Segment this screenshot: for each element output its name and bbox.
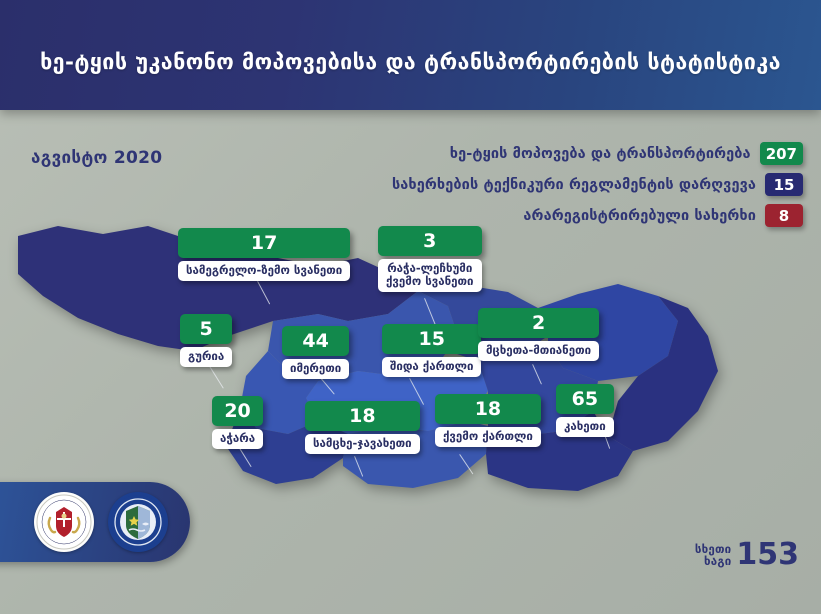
- logo-panel: [0, 482, 190, 562]
- date-label: აგვისტო 2020: [31, 148, 162, 168]
- map-marker-samtskhe[interactable]: 18 სამცხე-ჯავახეთი: [305, 401, 420, 454]
- marker-label: იმერეთი: [282, 359, 349, 379]
- map-marker-kakheti[interactable]: 65 კახეთი: [556, 384, 614, 437]
- marker-value: 20: [212, 396, 263, 426]
- department-seal-svg: [110, 494, 166, 550]
- marker-label: ქვემო ქართლი: [435, 427, 541, 447]
- marker-label: კახეთი: [556, 417, 614, 437]
- marker-label: შიდა ქართლი: [382, 357, 481, 377]
- marker-value: 18: [305, 401, 420, 431]
- legend-row: სახერხების ტექნიკური რეგლამენტის დარღვევ…: [243, 173, 803, 196]
- map-marker-shida-kartli[interactable]: 15 შიდა ქართლი: [382, 324, 481, 377]
- marker-value: 3: [378, 226, 482, 256]
- marker-value: 2: [478, 308, 599, 338]
- legend-label: ხე-ტყის მოპოვება და ტრანსპორტირება: [450, 146, 751, 162]
- infographic-root: ხე-ტყის უკანონო მოპოვებისა და ტრანსპორტი…: [0, 0, 821, 614]
- coat-of-arms-svg: [36, 494, 92, 550]
- map-marker-kvemo-kartli[interactable]: 18 ქვემო ქართლი: [435, 394, 541, 447]
- marker-value: 15: [382, 324, 481, 354]
- marker-value: 5: [180, 314, 232, 344]
- map-marker-imereti[interactable]: 44 იმერეთი: [282, 326, 349, 379]
- department-seal-icon: [108, 492, 168, 552]
- georgia-coat-of-arms-icon: [34, 492, 94, 552]
- marker-value: 17: [178, 228, 350, 258]
- total-label: სხეთი ხაგი: [695, 543, 731, 567]
- legend-row: ხე-ტყის მოპოვება და ტრანსპორტირება 207: [243, 142, 803, 165]
- legend-badge-count: 15: [765, 173, 803, 196]
- total-label-line2: ხაგი: [695, 555, 731, 567]
- marker-label-line1: რაჭა-ლეჩხუმი: [387, 261, 472, 275]
- marker-label: რაჭა-ლეჩხუმი ქვემო სვანეთი: [378, 259, 482, 292]
- legend-badge-count: 207: [760, 142, 803, 165]
- marker-label: სამეგრელო-ზემო სვანეთი: [178, 261, 350, 281]
- map-container: 17 სამეგრელო-ზემო სვანეთი 3 რაჭა-ლეჩხუმი…: [0, 196, 821, 506]
- marker-label: მცხეთა-მთიანეთი: [478, 341, 599, 361]
- legend-label: სახერხების ტექნიკური რეგლამენტის დარღვევ…: [392, 177, 756, 193]
- total-summary: სხეთი ხაგი 153: [695, 540, 799, 570]
- map-marker-adjara[interactable]: 20 აჭარა: [212, 396, 263, 449]
- map-marker-racha[interactable]: 3 რაჭა-ლეჩხუმი ქვემო სვანეთი: [378, 226, 482, 292]
- marker-value: 18: [435, 394, 541, 424]
- marker-value: 65: [556, 384, 614, 414]
- header-banner: ხე-ტყის უკანონო მოპოვებისა და ტრანსპორტი…: [0, 0, 821, 110]
- map-marker-guria[interactable]: 5 გურია: [180, 314, 232, 367]
- map-marker-samegrelo[interactable]: 17 სამეგრელო-ზემო სვანეთი: [178, 228, 350, 281]
- marker-value: 44: [282, 326, 349, 356]
- marker-label: აჭარა: [212, 429, 263, 449]
- map-marker-mtskheta[interactable]: 2 მცხეთა-მთიანეთი: [478, 308, 599, 361]
- total-value: 153: [736, 540, 799, 570]
- marker-label: გურია: [180, 347, 232, 367]
- marker-label-line2: ქვემო სვანეთი: [386, 274, 474, 288]
- page-title: ხე-ტყის უკანონო მოპოვებისა და ტრანსპორტი…: [0, 36, 821, 75]
- marker-label: სამცხე-ჯავახეთი: [305, 434, 420, 454]
